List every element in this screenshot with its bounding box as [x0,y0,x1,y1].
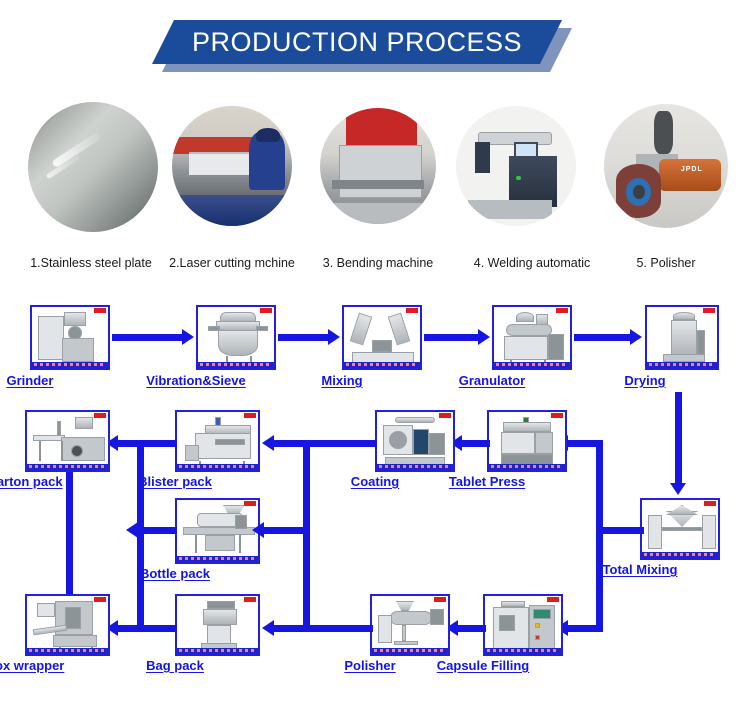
page-title: PRODUCTION PROCESS [192,27,522,58]
line-into-blister-pack [272,440,308,447]
arrow-mixing-to-granulator [424,334,480,341]
line-into-bottle-pack [262,527,308,534]
granulator-image [492,305,572,370]
plate-photo [28,102,158,232]
line-total-mixing-left [596,527,644,534]
line-into-box-wrapper [116,625,144,632]
flow-label-carton-pack: Carton pack [0,474,63,489]
bottle-pack-image [175,498,260,564]
arrowhead-into-bag-pack [262,620,274,636]
production-process-page: PRODUCTION PROCESS 1.Stainless steel pla… [0,0,750,706]
flow-label-coating: Coating [351,474,399,489]
arrowhead-into-bottle-pack [252,522,264,538]
angle-polisher-photo: JPDL [604,104,728,228]
flow-label-drying: Drying [624,373,665,388]
total-mixing-image [640,498,720,560]
bag-pack-image [175,594,260,656]
flow-label-box-wrapper: Box wrapper [0,658,64,673]
arrow-vibration-to-mixing [278,334,330,341]
flow-label-bottle-pack: Bottle pack [140,566,210,581]
fabrication-caption-2: 2.Laser cutting mchine [146,256,318,270]
line-into-carton-pack [116,440,144,447]
line-tablet-press-to-coating [460,440,490,447]
coating-image [375,410,455,472]
fabrication-caption-4: 4. Welding automatic [442,256,622,270]
tablet-press-image [487,410,567,472]
laser-cutting-photo [172,106,292,226]
arrowhead-bottle-pack-left [126,522,138,538]
fabrication-caption-5: 5. Polisher [596,256,736,270]
line-polisher-left [303,625,373,632]
page-title-banner: PRODUCTION PROCESS [152,20,572,72]
arrowhead-drying-to-total-mixing [670,483,686,495]
arrowhead-vibration-to-mixing [328,329,340,345]
arrow-carton-to-box-wrapper [66,472,73,597]
capsule-filling-image [483,594,563,656]
flow-label-bag-pack: Bag pack [146,658,204,673]
line-into-capsule-filling [567,625,603,632]
line-into-bag-pack [272,625,308,632]
arrow-granulator-to-drying [574,334,632,341]
line-coating-left [303,440,377,447]
grinder-image [30,305,110,370]
box-wrapper-image [25,594,110,656]
flow-label-granulator: Granulator [459,373,525,388]
flow-label-vibration-sieve: Vibration&Sieve [146,373,245,388]
blister-pack-image [175,410,260,472]
drying-image [645,305,719,370]
line-coating-down-trunk [303,440,310,630]
arrowhead-into-blister-pack [262,435,274,451]
flow-label-tablet-press: Tablet Press [449,474,525,489]
arrowhead-mixing-to-granulator [478,329,490,345]
banner-shape: PRODUCTION PROCESS [152,20,562,64]
welding-robot-photo [456,106,576,226]
mixing-image [342,305,422,370]
arrow-drying-to-total-mixing [675,392,682,485]
flow-label-grinder: Grinder [7,373,54,388]
carton-pack-image [25,410,110,472]
arrowhead-grinder-to-vibration [182,329,194,345]
vibration-sieve-image [196,305,276,370]
line-bottle-pack-left [137,527,177,534]
arrowhead-granulator-to-drying [630,329,642,345]
arrow-grinder-to-vibration [112,334,184,341]
line-right-trunk-down [596,527,603,632]
flow-label-blister-pack: Blister pack [138,474,212,489]
line-total-mixing-up [596,440,603,534]
line-blister-down-trunk [137,440,144,630]
flow-label-mixing: Mixing [321,373,362,388]
polisher-image [370,594,450,656]
flow-label-capsule-filling: Capsule Filling [437,658,529,673]
flow-label-total-mixing: Total Mixing [603,562,678,577]
fabrication-caption-3: 3. Bending machine [296,256,460,270]
line-capsule-to-polisher [456,625,486,632]
flow-label-polisher: Polisher [344,658,395,673]
bending-machine-photo [320,108,436,224]
line-into-tablet-press [567,440,603,447]
